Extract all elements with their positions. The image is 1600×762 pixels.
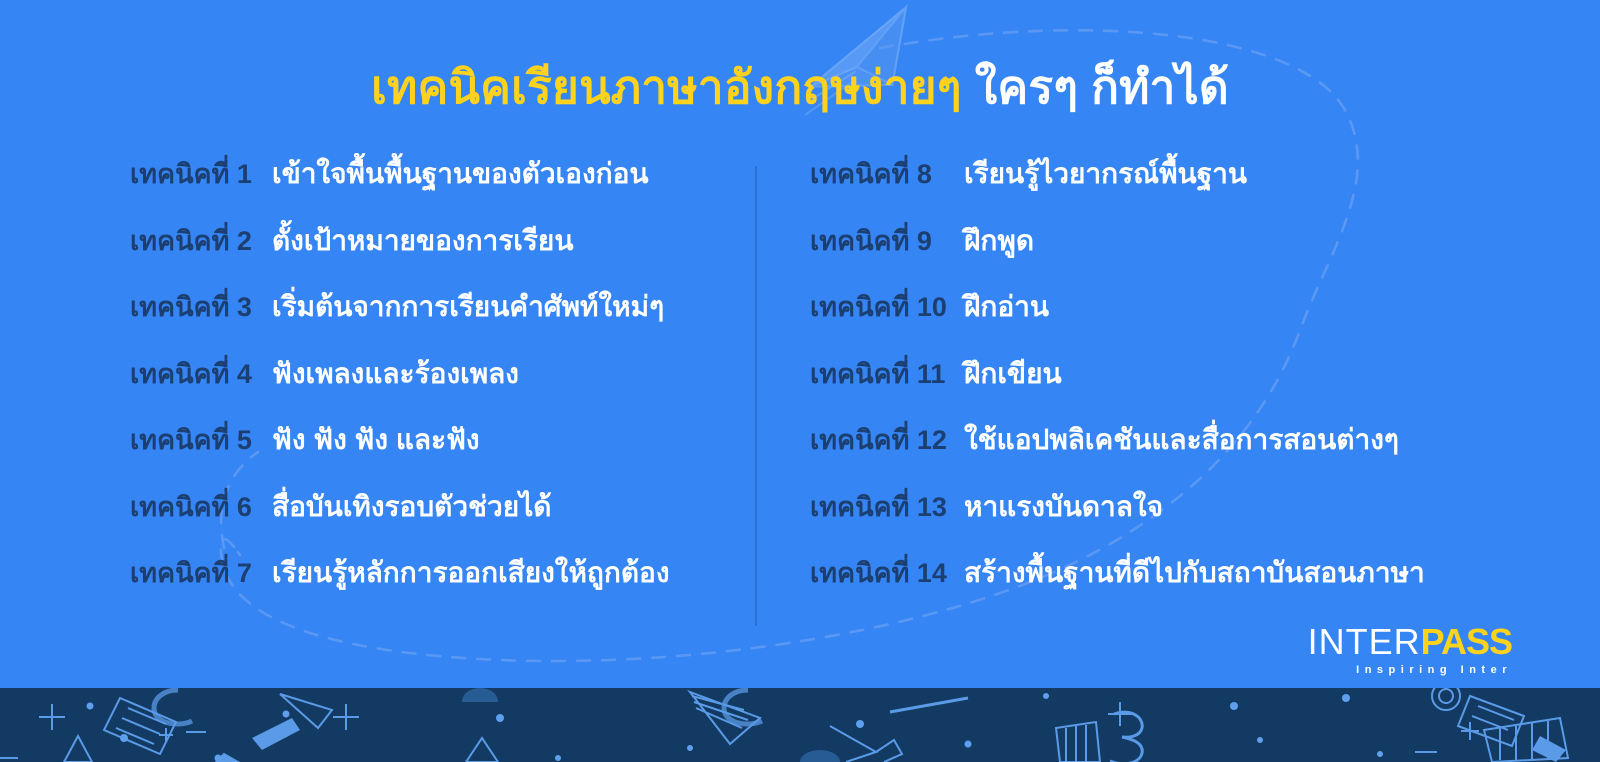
technique-text: ใช้แอปพลิเคชันและสื่อการสอนต่างๆ: [964, 418, 1399, 462]
technique-text: ฟัง ฟัง ฟัง และฟัง: [272, 418, 480, 462]
list-item: เทคนิคที่ 7 เรียนรู้หลักการออกเสียงให้ถู…: [130, 551, 710, 618]
technique-label: เทคนิคที่ 7: [130, 551, 262, 594]
techniques-column-right: เทคนิคที่ 8 เรียนรู้ไวยากรณ์พื้นฐาน เทคน…: [810, 152, 1510, 618]
technique-text: เรียนรู้หลักการออกเสียงให้ถูกต้อง: [272, 551, 670, 595]
technique-text: ฝึกพูด: [964, 219, 1034, 263]
technique-label: เทคนิคที่ 2: [130, 219, 262, 262]
list-item: เทคนิคที่ 8 เรียนรู้ไวยากรณ์พื้นฐาน: [810, 152, 1510, 219]
title-highlight: เทคนิคเรียนภาษาอังกฤษง่ายๆ: [371, 61, 962, 113]
technique-label: เทคนิคที่ 4: [130, 352, 262, 395]
list-item: เทคนิคที่ 12 ใช้แอปพลิเคชันและสื่อการสอน…: [810, 418, 1510, 485]
list-item: เทคนิคที่ 11 ฝึกเขียน: [810, 352, 1510, 419]
technique-label: เทคนิคที่ 11: [810, 352, 954, 395]
technique-label: เทคนิคที่ 8: [810, 152, 954, 195]
logo-pass-text: PASS: [1421, 621, 1512, 662]
technique-label: เทคนิคที่ 5: [130, 418, 262, 461]
brand-logo: INTERPASS Inspiring Inter: [1308, 624, 1512, 676]
bottom-pattern-bar: [0, 688, 1600, 762]
technique-text: หาแรงบันดาลใจ: [964, 485, 1163, 529]
technique-label: เทคนิคที่ 10: [810, 285, 954, 328]
list-item: เทคนิคที่ 1 เข้าใจพื้นพื้นฐานของตัวเองก่…: [130, 152, 710, 219]
technique-text: ฟังเพลงและร้องเพลง: [272, 352, 519, 396]
technique-label: เทคนิคที่ 9: [810, 219, 954, 262]
techniques-list: เทคนิคที่ 1 เข้าใจพื้นพื้นฐานของตัวเองก่…: [0, 152, 1600, 632]
logo-inter-text: INTER: [1308, 621, 1421, 662]
technique-label: เทคนิคที่ 14: [810, 551, 954, 594]
logo-tagline: Inspiring Inter: [1308, 664, 1512, 676]
technique-label: เทคนิคที่ 13: [810, 485, 954, 528]
list-item: เทคนิคที่ 10 ฝึกอ่าน: [810, 285, 1510, 352]
list-item: เทคนิคที่ 6 สื่อบันเทิงรอบตัวช่วยได้: [130, 485, 710, 552]
list-item: เทคนิคที่ 4 ฟังเพลงและร้องเพลง: [130, 352, 710, 419]
technique-text: ตั้งเป้าหมายของการเรียน: [272, 219, 573, 263]
technique-label: เทคนิคที่ 1: [130, 152, 262, 195]
list-item: เทคนิคที่ 9 ฝึกพูด: [810, 219, 1510, 286]
page-title: เทคนิคเรียนภาษาอังกฤษง่ายๆ ใครๆ ก็ทำได้: [0, 62, 1600, 113]
column-divider: [755, 166, 757, 626]
list-item: เทคนิคที่ 13 หาแรงบันดาลใจ: [810, 485, 1510, 552]
list-item: เทคนิคที่ 3 เริ่มต้นจากการเรียนคำศัพท์ให…: [130, 285, 710, 352]
technique-text: เข้าใจพื้นพื้นฐานของตัวเองก่อน: [272, 152, 649, 196]
title-rest: ใครๆ ก็ทำได้: [975, 61, 1229, 113]
technique-label: เทคนิคที่ 6: [130, 485, 262, 528]
techniques-column-left: เทคนิคที่ 1 เข้าใจพื้นพื้นฐานของตัวเองก่…: [130, 152, 710, 618]
technique-text: เรียนรู้ไวยากรณ์พื้นฐาน: [964, 152, 1247, 196]
poster-canvas: เทคนิคเรียนภาษาอังกฤษง่ายๆ ใครๆ ก็ทำได้ …: [0, 0, 1600, 762]
technique-text: ฝึกอ่าน: [964, 285, 1049, 329]
list-item: เทคนิคที่ 14 สร้างพื้นฐานที่ดีไปกับสถาบั…: [810, 551, 1510, 618]
school-supplies-pattern: [0, 688, 1600, 762]
technique-text: สื่อบันเทิงรอบตัวช่วยได้: [272, 485, 551, 529]
list-item: เทคนิคที่ 5 ฟัง ฟัง ฟัง และฟัง: [130, 418, 710, 485]
technique-text: ฝึกเขียน: [964, 352, 1062, 396]
technique-label: เทคนิคที่ 3: [130, 285, 262, 328]
technique-text: เริ่มต้นจากการเรียนคำศัพท์ใหม่ๆ: [272, 285, 664, 329]
technique-label: เทคนิคที่ 12: [810, 418, 954, 461]
list-item: เทคนิคที่ 2 ตั้งเป้าหมายของการเรียน: [130, 219, 710, 286]
technique-text: สร้างพื้นฐานที่ดีไปกับสถาบันสอนภาษา: [964, 551, 1425, 595]
